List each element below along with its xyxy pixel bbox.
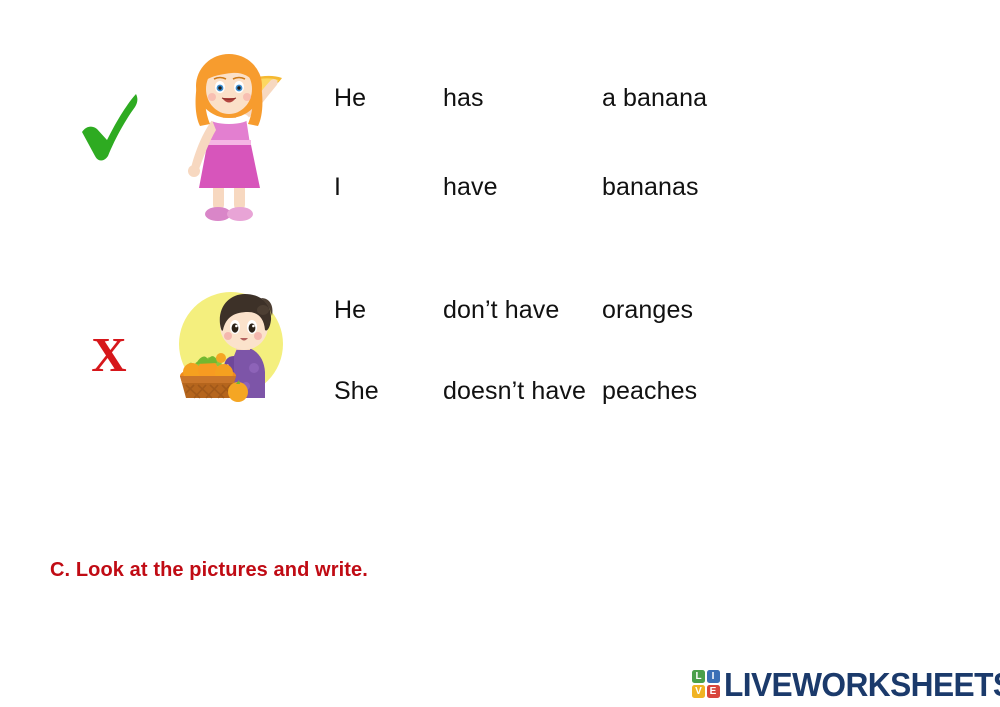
logo-tile-l: L (692, 670, 705, 683)
girl-holding-banana-illustration (172, 54, 290, 226)
sentence-object: a banana (602, 86, 707, 111)
exercise-row-oranges: X (0, 280, 1000, 425)
sentence-subject: He (334, 86, 366, 111)
sentence-verb: don’t have (443, 298, 559, 323)
green-check-icon (76, 88, 142, 164)
sentence-object: bananas (602, 175, 699, 200)
sentence-object: peaches (602, 379, 697, 404)
logo-tile-e: E (707, 685, 720, 698)
sentence-verb: have (443, 175, 498, 200)
sentence-object: oranges (602, 298, 693, 323)
boy-with-basket-of-oranges-illustration (166, 286, 296, 406)
worksheet-page: He has a banana I have bananas X (0, 0, 1000, 707)
instruction-text: C. Look at the pictures and write. (50, 559, 368, 582)
sentence-subject: I (334, 175, 341, 200)
sentence-verb: doesn’t have (443, 379, 586, 404)
logo-tile-grid: L I V E (692, 670, 720, 698)
logo-tile-i: I (707, 670, 720, 683)
mark-cell-check (66, 88, 152, 169)
mark-cell-cross: X (66, 330, 152, 379)
sentence-verb: has (443, 86, 484, 111)
red-cross-icon: X (66, 330, 152, 379)
exercise-row-banana: He has a banana I have bananas (0, 48, 1000, 228)
sentence-subject: He (334, 298, 366, 323)
liveworksheets-logo: L I V E LIVEWORKSHEETS (692, 664, 1000, 704)
sentence-subject: She (334, 379, 379, 404)
logo-tile-v: V (692, 685, 705, 698)
logo-wordmark: LIVEWORKSHEETS (724, 668, 1000, 701)
